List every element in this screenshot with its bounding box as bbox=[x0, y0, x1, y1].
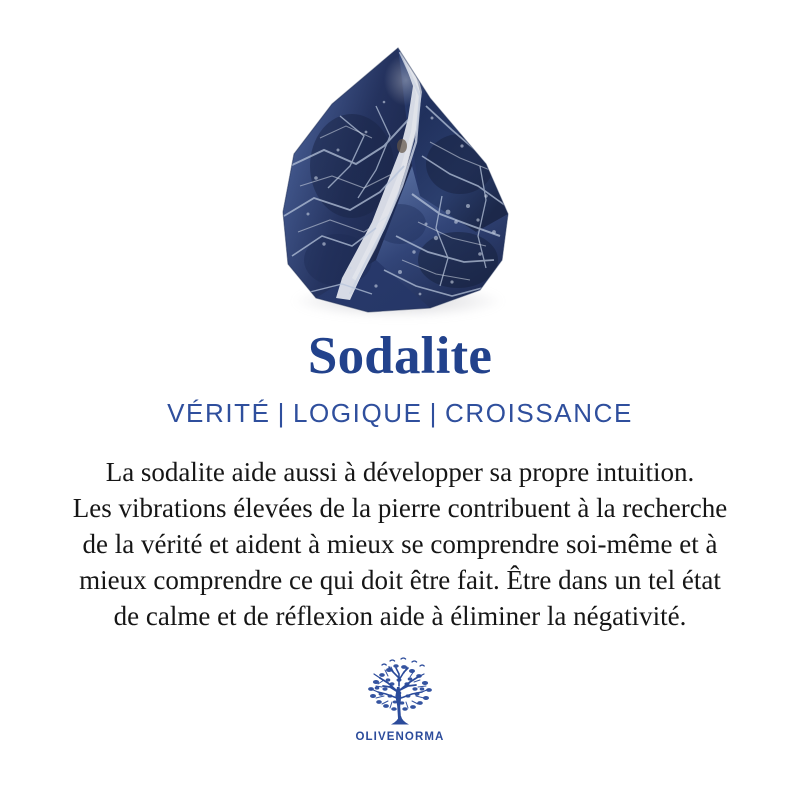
keyword-2: LOGIQUE bbox=[293, 398, 423, 428]
sodalite-crystal-illustration bbox=[280, 46, 512, 314]
description-line-1: La sodalite aide aussi à développer sa p… bbox=[5, 454, 795, 490]
keyword-3: CROISSANCE bbox=[445, 398, 633, 428]
description-line-3: de la vérité et aident à mieux se compre… bbox=[5, 526, 795, 562]
brand-wordmark: OLIVENORMA bbox=[356, 731, 445, 743]
description-line-2: Les vibrations élevées de la pierre cont… bbox=[5, 490, 795, 526]
brand-logo: OLIVENORMA bbox=[340, 656, 460, 743]
sodalite-crystal-image bbox=[280, 46, 512, 314]
description-text: La sodalite aide aussi à développer sa p… bbox=[5, 454, 795, 634]
sodalite-info-card: Sodalite VÉRITÉ|LOGIQUE|CROISSANCE La so… bbox=[0, 0, 800, 800]
keyword-1: VÉRITÉ bbox=[167, 398, 271, 428]
description-line-5: de calme et de réflexion aide à éliminer… bbox=[5, 598, 795, 634]
keyword-list: VÉRITÉ|LOGIQUE|CROISSANCE bbox=[167, 400, 633, 426]
keyword-separator-1: | bbox=[271, 398, 293, 428]
olive-tree-icon bbox=[358, 656, 442, 730]
product-image-area bbox=[0, 0, 800, 330]
description-line-4: mieux comprendre ce qui doit être fait. … bbox=[5, 562, 795, 598]
keyword-separator-2: | bbox=[423, 398, 445, 428]
page-title: Sodalite bbox=[308, 330, 492, 383]
